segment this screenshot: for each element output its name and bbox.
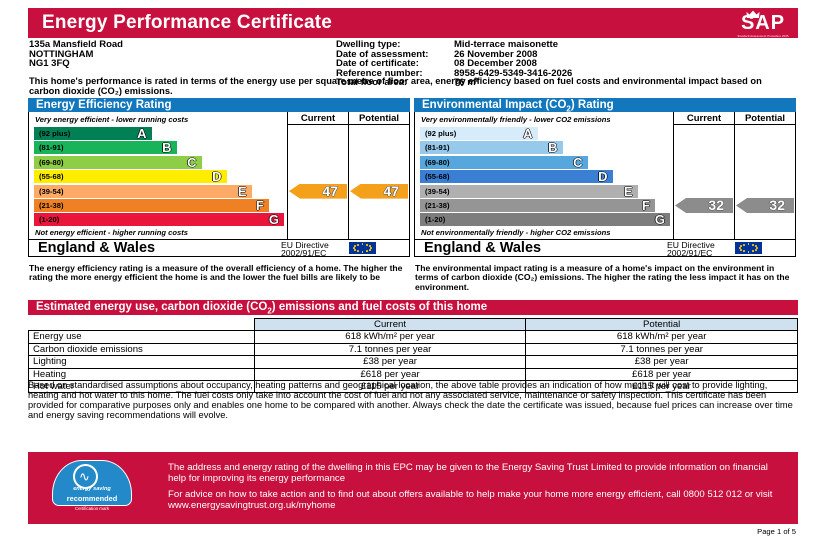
page-title: Energy Performance Certificate <box>42 12 332 34</box>
table-header-row: CurrentPotential <box>29 319 798 331</box>
page-number: Page 1 of 5 <box>757 527 796 536</box>
eu-star <box>740 249 742 251</box>
estimated-title-post: ) emissions and fuel costs of this home <box>272 301 487 313</box>
co2-caption-bottom: Not environmentally friendly - higher CO… <box>421 228 610 237</box>
energy-directive: EU Directive 2002/91/EC <box>281 240 329 257</box>
energy-potential-header: Potential <box>348 112 409 125</box>
footer-paragraph-2: For advice on how to take action and to … <box>168 489 784 512</box>
energy-region-bar: England & Wales EU Directive 2002/91/EC <box>28 240 410 257</box>
energy-current-column <box>287 125 348 239</box>
band-bar-e: (39-54)E <box>34 185 252 198</box>
energy-band-bars: (92 plus)A(81-91)B(69-80)C(55-68)D(39-54… <box>34 127 284 228</box>
row-potential: 618 kWh/m² per year <box>526 331 798 343</box>
co2-region-name: England & Wales <box>424 240 541 256</box>
co2-title-pre: Environmental Impact (CO <box>422 99 566 111</box>
estimated-title: Estimated energy use, carbon dioxide (CO… <box>28 300 798 315</box>
band-range: (39-54) <box>39 185 63 198</box>
eu-star <box>357 244 359 246</box>
band-bar-c: (69-80)C <box>34 156 202 169</box>
band-bar-b: (81-91)B <box>420 141 563 154</box>
band-range: (81-91) <box>425 141 449 154</box>
eu-star <box>353 247 355 249</box>
co2-chart: Very environmentally friendly - lower CO… <box>414 112 796 240</box>
table-header-current: Current <box>254 319 526 331</box>
band-range: (92 plus) <box>425 127 456 140</box>
table-header-potential: Potential <box>526 319 798 331</box>
sap-letters: SAP <box>732 9 794 37</box>
energy-panel-title: Energy Efficiency Rating <box>28 98 410 112</box>
energy-caption-bottom: Not energy efficient - higher running co… <box>35 228 188 237</box>
band-letter: A <box>523 127 532 140</box>
co2-potential-header: Potential <box>734 112 795 125</box>
swirl-icon: ∿ <box>79 470 92 483</box>
eu-star <box>743 244 745 246</box>
co2-current-header: Current <box>673 112 734 125</box>
logo-line1: energy saving <box>46 486 138 492</box>
co2-potential-arrow: 32 <box>736 198 794 213</box>
band-range: (21-38) <box>425 199 449 212</box>
band-range: (55-68) <box>39 170 63 183</box>
eu-star <box>755 249 757 251</box>
row-potential: £38 per year <box>526 356 798 368</box>
band-letter: E <box>238 185 247 198</box>
co2-directive: EU Directive 2002/91/EC <box>667 240 715 257</box>
eu-star <box>354 245 356 247</box>
energy-potential-column <box>348 125 409 239</box>
eu-star <box>354 249 356 251</box>
eu-star <box>743 250 745 252</box>
energy-potential-arrow: 47 <box>350 184 408 199</box>
row-potential: 7.1 tonnes per year <box>526 343 798 355</box>
band-letter: G <box>655 213 665 226</box>
band-letter: D <box>212 170 221 183</box>
band-range: (21-38) <box>39 199 63 212</box>
band-bar-f: (21-38)F <box>34 199 269 212</box>
row-label: Heating <box>29 368 255 380</box>
energy-current-arrow: 47 <box>289 184 347 199</box>
eu-star <box>748 251 750 253</box>
energy-current-header: Current <box>287 112 348 125</box>
band-letter: E <box>624 185 633 198</box>
band-bar-d: (55-68)D <box>420 170 613 183</box>
co2-panel-title: Environmental Impact (CO2) Rating <box>414 98 796 112</box>
row-current: 7.1 tonnes per year <box>254 343 526 355</box>
band-bar-e: (39-54)E <box>420 185 638 198</box>
band-bar-d: (55-68)D <box>34 170 227 183</box>
band-letter: D <box>598 170 607 183</box>
energy-caption-top: Very energy efficient - lower running co… <box>35 115 188 124</box>
band-bar-a: (92 plus)A <box>420 127 538 140</box>
energy-region-name: England & Wales <box>38 240 155 256</box>
band-range: (55-68) <box>425 170 449 183</box>
band-letter: B <box>162 141 171 154</box>
band-letter: F <box>256 199 264 212</box>
row-potential: £618 per year <box>526 368 798 380</box>
band-letter: A <box>137 127 146 140</box>
co2-current-column <box>673 125 734 239</box>
header-bar: Energy Performance Certificate SAP Stand… <box>28 8 798 38</box>
co2-current-arrow: 32 <box>675 198 733 213</box>
table-row: Lighting£38 per year£38 per year <box>29 356 798 368</box>
band-range: (69-80) <box>425 156 449 169</box>
eu-star <box>366 250 368 252</box>
band-letter: B <box>548 141 557 154</box>
co2-band-bars: (92 plus)A(81-91)B(69-80)C(55-68)D(39-54… <box>420 127 670 228</box>
footer-text: The address and energy rating of the dwe… <box>168 462 784 512</box>
band-bar-c: (69-80)C <box>420 156 588 169</box>
table-row: Carbon dioxide emissions7.1 tonnes per y… <box>29 343 798 355</box>
eu-star <box>740 245 742 247</box>
co2-region-bar: England & Wales EU Directive 2002/91/EC <box>414 240 796 257</box>
row-current: 618 kWh/m² per year <box>254 331 526 343</box>
eu-flag-icon <box>735 242 762 254</box>
band-range: (92 plus) <box>39 127 70 140</box>
energy-efficiency-panel: Energy Efficiency Rating Very energy eff… <box>28 98 410 240</box>
energy-chart: Very energy efficient - lower running co… <box>28 112 410 240</box>
band-letter: C <box>573 156 582 169</box>
footer-bar: ∿ energy saving recommended Certificatio… <box>28 452 798 524</box>
eu-star <box>752 250 754 252</box>
logo-line2: recommended <box>46 494 138 503</box>
table-row: Energy use618 kWh/m² per year618 kWh/m² … <box>29 331 798 343</box>
eu-star <box>748 243 750 245</box>
eu-flag-icon <box>349 242 376 254</box>
eu-star <box>362 251 364 253</box>
eu-star <box>362 243 364 245</box>
band-range: (1-20) <box>425 213 445 226</box>
band-bar-g: (1-20)G <box>420 213 670 226</box>
row-label: Carbon dioxide emissions <box>29 343 255 355</box>
sap-logo: SAP Standard Assessment Procedure 2005 <box>732 9 794 37</box>
epc-page: Energy Performance Certificate SAP Stand… <box>0 0 820 547</box>
row-current: £618 per year <box>254 368 526 380</box>
estimated-title-pre: Estimated energy use, carbon dioxide (CO <box>36 301 267 313</box>
band-letter: G <box>269 213 279 226</box>
energy-directive-line2: 2002/91/EC <box>281 249 329 257</box>
row-current: £38 per year <box>254 356 526 368</box>
band-range: (69-80) <box>39 156 63 169</box>
band-range: (39-54) <box>425 185 449 198</box>
eu-star <box>366 244 368 246</box>
eu-star <box>752 244 754 246</box>
eu-star <box>739 247 741 249</box>
eu-star <box>357 250 359 252</box>
sap-logo-sub: Standard Assessment Procedure 2005 <box>732 35 794 38</box>
band-letter: F <box>642 199 650 212</box>
band-bar-f: (21-38)F <box>420 199 655 212</box>
footer-paragraph-1: The address and energy rating of the dwe… <box>168 462 784 485</box>
band-bar-b: (81-91)B <box>34 141 177 154</box>
table-row: Heating£618 per year£618 per year <box>29 368 798 380</box>
crown-icon <box>746 10 760 19</box>
band-range: (81-91) <box>39 141 63 154</box>
table-corner-cell <box>29 319 255 331</box>
disclaimer-paragraph: Based on standardised assumptions about … <box>28 380 796 420</box>
property-address: 135a Mansfield Road NOTTINGHAM NG1 3FQ <box>29 40 123 69</box>
co2-directive-line2: 2002/91/EC <box>667 249 715 257</box>
co2-note: The environmental impact rating is a mea… <box>415 264 790 292</box>
band-bar-g: (1-20)G <box>34 213 284 226</box>
co2-caption-top: Very environmentally friendly - lower CO… <box>421 115 611 124</box>
eu-star <box>369 249 371 251</box>
co2-panel: Environmental Impact (CO2) Rating Very e… <box>414 98 796 240</box>
logo-line3: Certification mark <box>46 506 138 511</box>
band-letter: C <box>187 156 196 169</box>
row-label: Lighting <box>29 356 255 368</box>
energy-saving-trust-logo: ∿ energy saving recommended Certificatio… <box>46 458 138 516</box>
band-range: (1-20) <box>39 213 59 226</box>
co2-title-post: ) Rating <box>571 99 614 111</box>
co2-potential-column <box>734 125 795 239</box>
row-label: Energy use <box>29 331 255 343</box>
energy-note: The energy efficiency rating is a measur… <box>29 264 404 283</box>
intro-paragraph: This home's performance is rated in term… <box>29 76 791 96</box>
band-bar-a: (92 plus)A <box>34 127 152 140</box>
